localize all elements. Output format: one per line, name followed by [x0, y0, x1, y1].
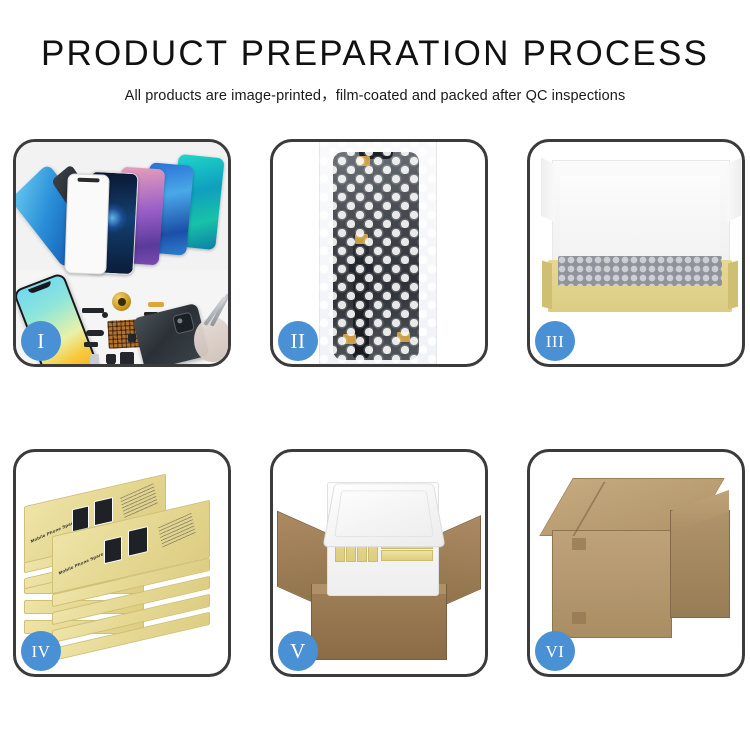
- carton-tab: [572, 612, 586, 624]
- spare-part: [90, 354, 99, 364]
- bubble-texture: [319, 142, 437, 364]
- spare-part: [120, 352, 134, 364]
- phone-front-glass: [64, 173, 109, 274]
- infographic-page: PRODUCT PREPARATION PROCESS All products…: [0, 0, 750, 750]
- process-step-grid: I II: [13, 139, 737, 677]
- step-badge-2: II: [278, 321, 318, 361]
- step-badge-5: V: [278, 631, 318, 671]
- page-title: PRODUCT PREPARATION PROCESS: [0, 36, 750, 73]
- camera-module: [172, 312, 195, 335]
- process-step-4: Mobile Phone Spare Parts Mobile: [13, 449, 231, 677]
- foam-sheet: [560, 176, 720, 262]
- step-badge-6: VI: [535, 631, 575, 671]
- process-step-3: III: [527, 139, 745, 367]
- spare-part: [102, 312, 108, 318]
- header: PRODUCT PREPARATION PROCESS All products…: [0, 0, 750, 105]
- carton-side-face: [670, 510, 730, 618]
- box-screen-photo: [128, 526, 148, 557]
- yellow-box-inside: [381, 550, 433, 561]
- step-badge-1: I: [21, 321, 61, 361]
- process-step-2: II: [270, 139, 488, 367]
- camera-lens-part: [112, 292, 131, 311]
- carton-tab: [572, 538, 586, 550]
- step-badge-4: IV: [21, 631, 61, 671]
- box-screen-photo: [104, 536, 122, 564]
- bubble-wrap-inside-box: [558, 256, 722, 286]
- process-step-6: VI: [527, 449, 745, 677]
- spare-part: [106, 354, 116, 364]
- page-subtitle: All products are image-printed，film-coat…: [0, 84, 750, 105]
- process-step-5: V: [270, 449, 488, 677]
- spare-part: [86, 330, 104, 336]
- bubble-wrap-bag: [319, 142, 437, 364]
- foam-lid: [322, 484, 445, 548]
- spare-part: [128, 334, 136, 342]
- box-stack-group: Mobile Phone Spare Parts Mobile: [24, 472, 226, 662]
- spare-part: [82, 308, 104, 313]
- spare-part: [148, 302, 164, 307]
- spare-part: [84, 342, 98, 347]
- carton-front-face: [552, 530, 672, 638]
- process-step-1: I: [13, 139, 231, 367]
- step-badge-3: III: [535, 321, 575, 361]
